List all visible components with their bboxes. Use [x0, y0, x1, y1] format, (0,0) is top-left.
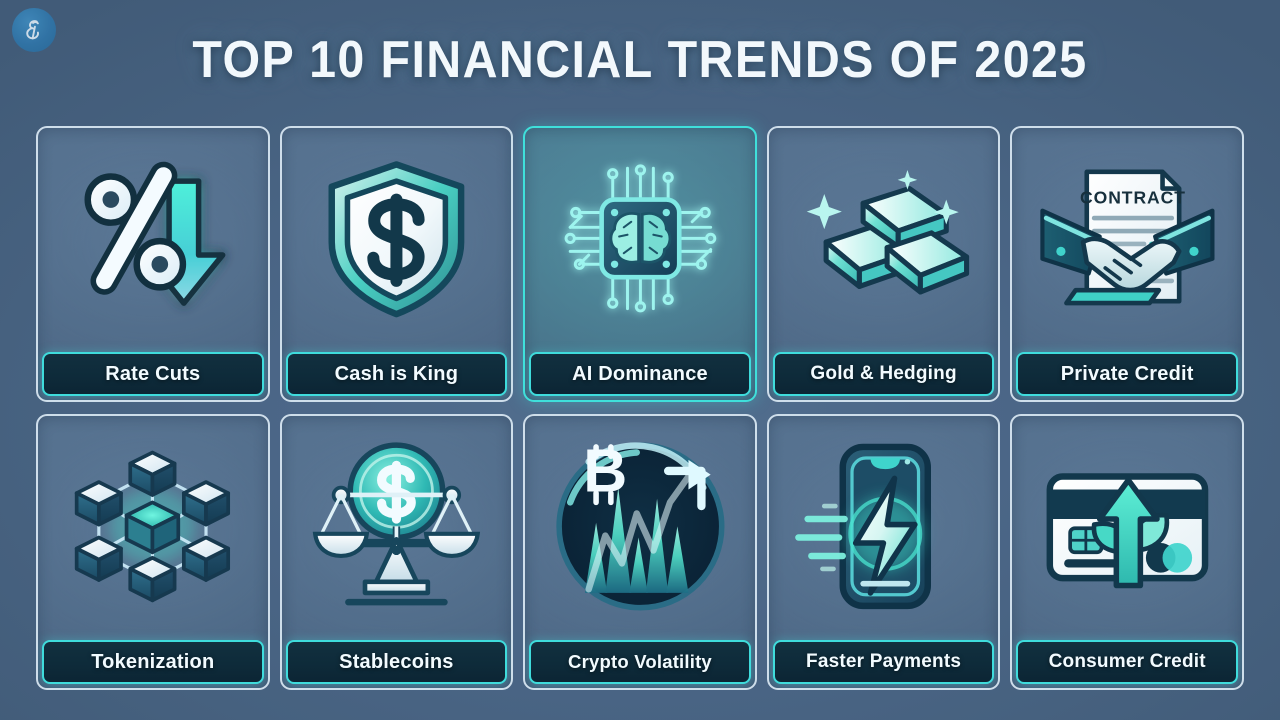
card-label: AI Dominance — [529, 352, 751, 396]
shield-dollar-icon — [282, 128, 512, 348]
trend-card-faster-payments[interactable]: Faster Payments — [767, 414, 1001, 690]
trend-card-private-credit[interactable]: CONTRACT — [1010, 126, 1244, 402]
trend-card-grid: Rate Cuts — [36, 126, 1244, 690]
trend-card-gold-hedging[interactable]: Gold & Hedging — [767, 126, 1001, 402]
gold-bars-sparkle-icon — [769, 128, 999, 348]
card-label: Crypto Volatility — [529, 640, 751, 684]
phone-lightning-bolt-icon — [769, 416, 999, 636]
balance-scale-dollar-icon — [282, 416, 512, 636]
trend-card-crypto-volatility[interactable]: B Crypto Volatility — [523, 414, 757, 690]
card-label: Private Credit — [1016, 352, 1238, 396]
trend-card-tokenization[interactable]: Tokenization — [36, 414, 270, 690]
card-label: Gold & Hedging — [773, 352, 995, 396]
infographic-canvas: TOP 10 FINANCIAL TRENDS OF 2025 — [0, 0, 1280, 720]
svg-text:B: B — [583, 436, 627, 504]
bitcoin-volatility-chart-icon: B — [525, 416, 755, 636]
card-label: Stablecoins — [286, 640, 508, 684]
card-label: Consumer Credit — [1016, 640, 1238, 684]
contract-handshake-icon: CONTRACT — [1012, 128, 1242, 348]
card-label: Tokenization — [42, 640, 264, 684]
card-label: Cash is King — [286, 352, 508, 396]
card-label: Rate Cuts — [42, 352, 264, 396]
brain-chip-circuit-icon — [525, 128, 755, 348]
trend-card-consumer-credit[interactable]: Consumer Credit — [1010, 414, 1244, 690]
trend-card-stablecoins[interactable]: Stablecoins — [280, 414, 514, 690]
trend-card-cash-is-king[interactable]: Cash is King — [280, 126, 514, 402]
card-label: Faster Payments — [773, 640, 995, 684]
percent-down-arrow-icon — [38, 128, 268, 348]
trend-card-ai-dominance[interactable]: AI Dominance — [523, 126, 757, 402]
credit-card-growth-icon — [1012, 416, 1242, 636]
page-title: TOP 10 FINANCIAL TRENDS OF 2025 — [45, 30, 1235, 90]
blockchain-cubes-icon — [38, 416, 268, 636]
trend-card-rate-cuts[interactable]: Rate Cuts — [36, 126, 270, 402]
contract-heading: CONTRACT — [1080, 187, 1186, 207]
